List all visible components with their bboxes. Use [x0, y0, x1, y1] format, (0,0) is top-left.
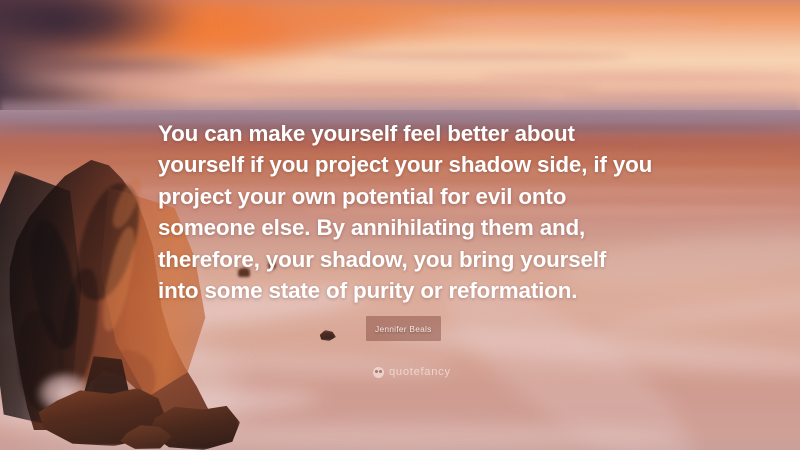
quote-line: You can make yourself feel better about	[158, 118, 668, 149]
quote-text-block: You can make yourself feel better about …	[158, 118, 668, 306]
quote-line: into some state of purity or reformation…	[158, 275, 668, 306]
cloud-streak	[540, 34, 800, 44]
watermark-brand-label: quotefancy	[389, 366, 451, 378]
cloud-streak	[180, 84, 600, 93]
quotefancy-circle-logo-icon	[373, 367, 384, 378]
cloud-streak	[480, 72, 800, 82]
author-badge[interactable]: Jennifer Beals	[366, 316, 441, 341]
quotefancy-watermark[interactable]: quotefancy	[373, 366, 451, 378]
cloud-streak	[330, 52, 630, 61]
quote-line: yourself if you project your shadow side…	[158, 149, 668, 180]
quote-line: therefore, your shadow, you bring yourse…	[158, 244, 668, 275]
quote-line: someone else. By annihilating them and,	[158, 212, 668, 243]
author-name: Jennifer Beals	[375, 324, 432, 334]
quote-wallpaper-scene: You can make yourself feel better about …	[0, 0, 800, 450]
quote-line: project your own potential for evil onto	[158, 181, 668, 212]
cloud-streak	[420, 16, 720, 28]
